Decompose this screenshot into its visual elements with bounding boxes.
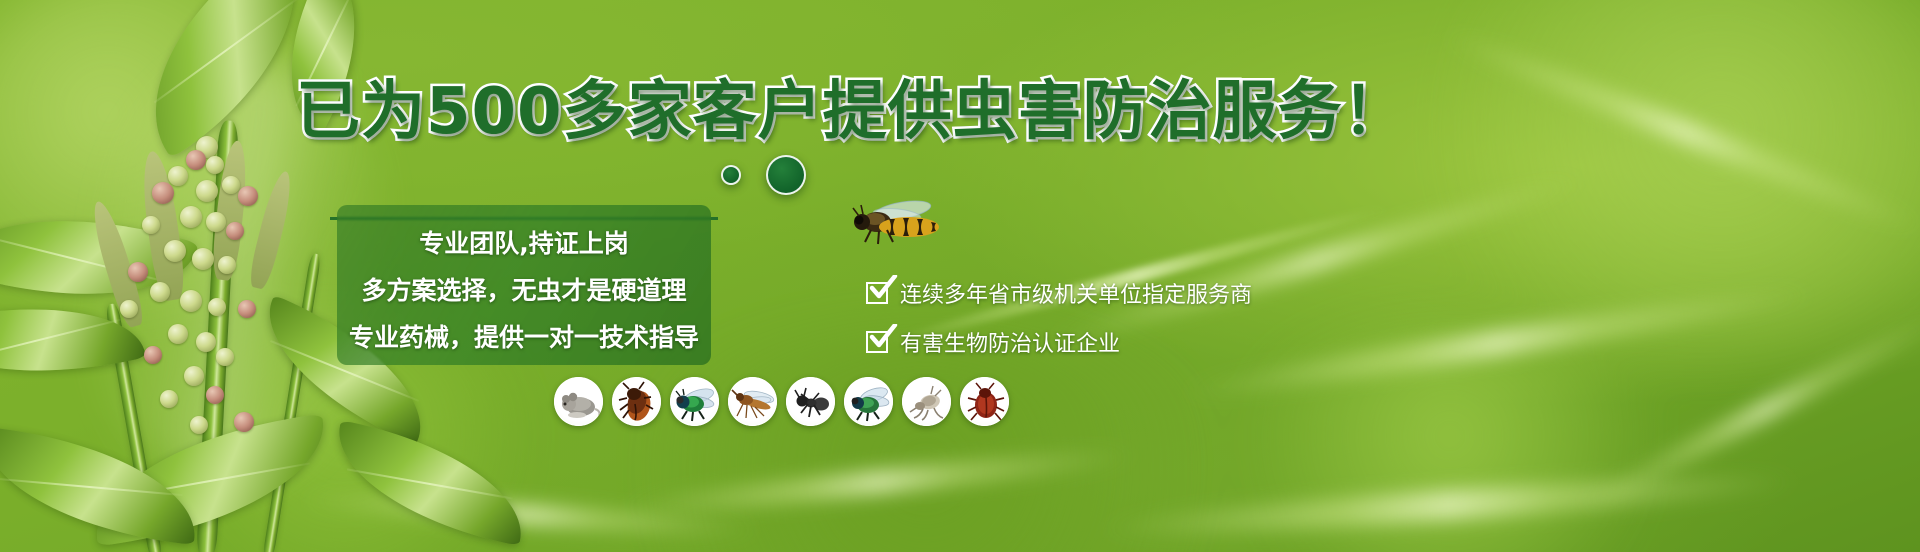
hoverfly-illustration — [845, 196, 965, 256]
page-title: 已为500多家客户提供虫害防治服务！ — [0, 76, 1920, 148]
checklist-label-1: 连续多年省市级机关单位指定服务商 — [900, 277, 1252, 309]
checkbox-checked-icon — [866, 331, 888, 353]
large-dot — [766, 155, 806, 195]
feature-line-1: 专业团队,持证上岗 — [337, 224, 711, 260]
checklist-item-2: 有害生物防治认证企业 — [866, 326, 1120, 358]
flea-icon[interactable] — [902, 377, 951, 426]
feature-highlight-box: 专业团队,持证上岗 多方案选择，无虫才是硬道理 专业药械，提供一对一技术指导 — [337, 205, 711, 365]
feature-line-2: 多方案选择，无虫才是硬道理 — [337, 271, 711, 307]
checkbox-checked-icon — [866, 282, 888, 304]
ant-icon[interactable] — [786, 377, 835, 426]
pest-icon-row — [554, 377, 1009, 426]
housefly-icon[interactable] — [844, 377, 893, 426]
checklist-item-1: 连续多年省市级机关单位指定服务商 — [866, 277, 1252, 309]
bedbug-icon[interactable] — [960, 377, 1009, 426]
mosquito-icon[interactable] — [728, 377, 777, 426]
feature-line-3: 专业药械，提供一对一技术指导 — [337, 318, 711, 354]
mouse-icon[interactable] — [554, 377, 603, 426]
cockroach-icon[interactable] — [612, 377, 661, 426]
small-dot — [721, 165, 741, 185]
blowfly-icon[interactable] — [670, 377, 719, 426]
checklist-label-2: 有害生物防治认证企业 — [900, 326, 1120, 358]
headline-text: 已为500多家客户提供虫害防治服务！ — [296, 75, 1408, 149]
promo-banner: 已为500多家客户提供虫害防治服务！ 专业团队,持证上岗 多方案选择，无虫才是硬… — [0, 0, 1920, 552]
